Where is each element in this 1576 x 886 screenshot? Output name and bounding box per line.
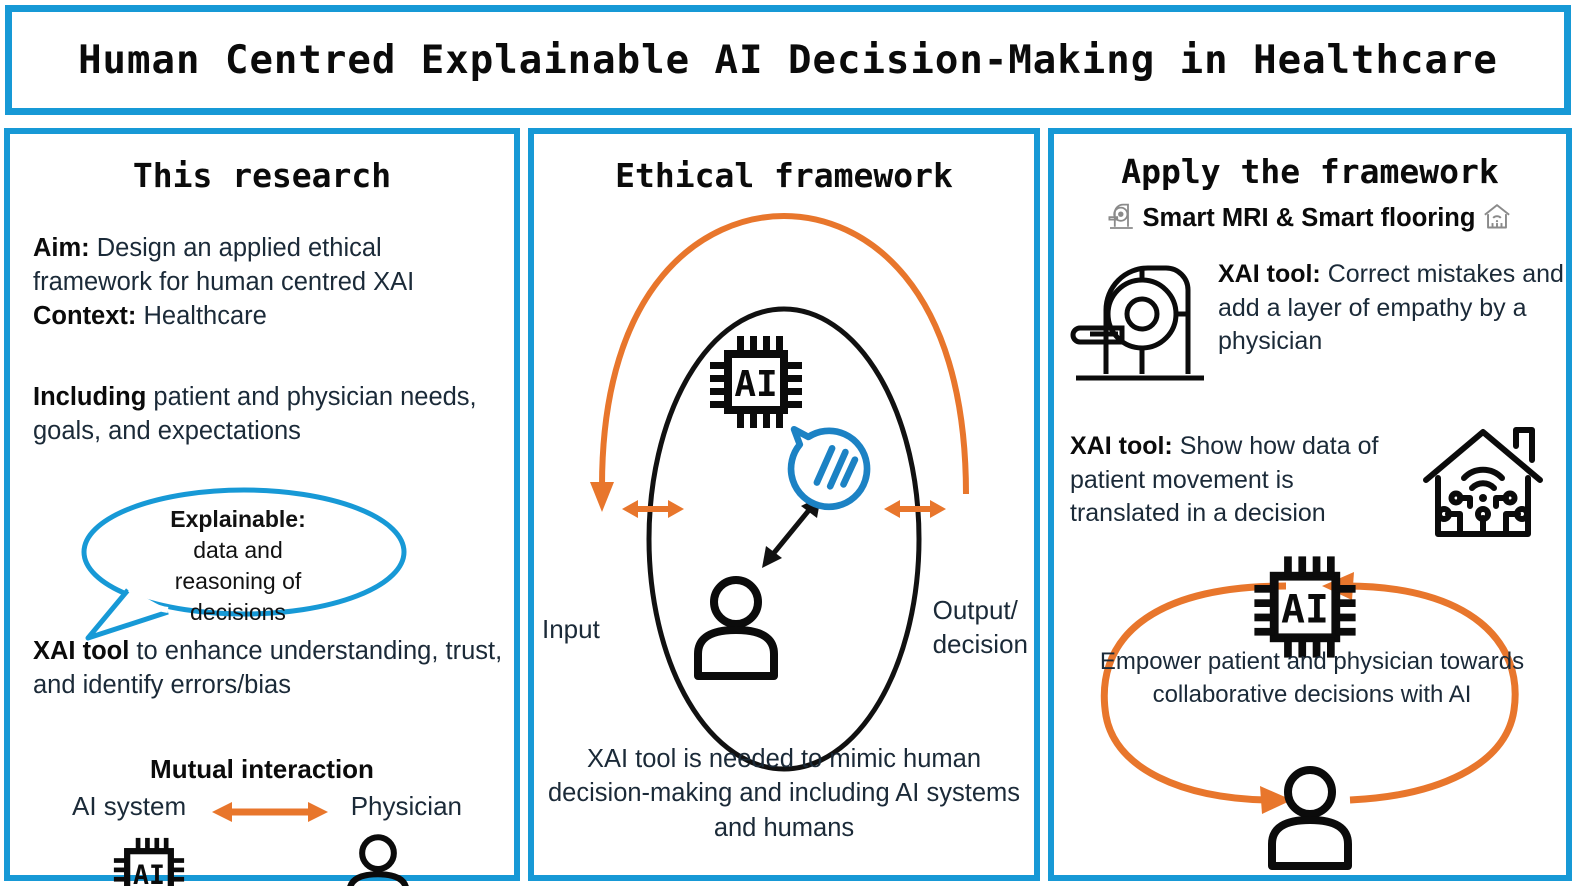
output-label-line1: Output/ bbox=[933, 595, 1018, 625]
explainable-bubble-icon bbox=[777, 416, 872, 516]
bubble-text: Explainable: data and reasoning of decis… bbox=[58, 504, 418, 628]
bubble-line2: data and bbox=[193, 537, 283, 563]
output-label: Output/ decision bbox=[933, 594, 1028, 662]
ai-system-label: AI system bbox=[72, 791, 186, 822]
mid-caption: XAI tool is needed to mimic human decisi… bbox=[548, 742, 1020, 845]
mutual-interaction-row: AI system Physician bbox=[10, 791, 514, 837]
svg-text:AI: AI bbox=[734, 364, 777, 405]
panel-this-research: This research Aim: Design an applied eth… bbox=[4, 128, 520, 881]
xai-tool-mri-text: XAI tool: Correct mistakes and add a lay… bbox=[1218, 258, 1568, 359]
aim-context-block: Aim: Design an applied ethical framework… bbox=[33, 232, 503, 334]
graphical-abstract: Human Centred Explainable AI Decision-Ma… bbox=[0, 0, 1576, 886]
svg-text:AI: AI bbox=[133, 860, 165, 886]
panel-apply-framework: Apply the framework Smart MRI & Smart fl… bbox=[1048, 128, 1572, 881]
mutual-interaction-title: Mutual interaction bbox=[10, 754, 514, 785]
title-bar: Human Centred Explainable AI Decision-Ma… bbox=[5, 5, 1571, 115]
aim-label: Aim: bbox=[33, 234, 90, 262]
context-label: Context: bbox=[33, 302, 136, 330]
person-icon bbox=[686, 574, 786, 685]
right-subtitle-row: Smart MRI & Smart flooring bbox=[1054, 200, 1566, 237]
xai-tool-block: XAI tool to enhance understanding, trust… bbox=[33, 635, 513, 703]
svg-text:AI: AI bbox=[1281, 586, 1329, 632]
including-label: Including bbox=[33, 383, 146, 411]
panel-ethical-framework: Ethical framework bbox=[528, 128, 1040, 881]
xai-tool-flooring-text: XAI tool: Show how data of patient movem… bbox=[1070, 430, 1400, 531]
bubble-line4: decisions bbox=[190, 599, 286, 625]
panel-right-title: Apply the framework bbox=[1054, 152, 1566, 191]
including-block: Including patient and physician needs, g… bbox=[33, 381, 503, 449]
mri-scanner-icon bbox=[1070, 256, 1210, 391]
physician-label: Physician bbox=[351, 791, 462, 822]
smart-home-icon bbox=[1481, 200, 1513, 237]
aim-text: Design an applied ethical framework for … bbox=[33, 234, 414, 296]
page-title: Human Centred Explainable AI Decision-Ma… bbox=[78, 38, 1498, 83]
smart-home-wifi-icon bbox=[1418, 422, 1548, 552]
right-subtitle: Smart MRI & Smart flooring bbox=[1143, 204, 1476, 233]
double-arrow-icon bbox=[210, 797, 330, 832]
input-label: Input bbox=[542, 614, 600, 645]
xai-tool-label-2: XAI tool: bbox=[1070, 432, 1173, 460]
bubble-line3: reasoning of bbox=[175, 568, 302, 594]
loop-caption: Empower patient and physician towards co… bbox=[1090, 646, 1534, 711]
xai-tool-label: XAI tool bbox=[33, 637, 129, 665]
bubble-heading: Explainable: bbox=[170, 506, 305, 532]
panel-left-title: This research bbox=[10, 156, 514, 195]
person-icon bbox=[340, 832, 416, 886]
explainable-speech-bubble: Explainable: data and reasoning of decis… bbox=[58, 486, 418, 646]
mri-scanner-icon bbox=[1107, 201, 1137, 236]
xai-tool-label-1: XAI tool: bbox=[1218, 260, 1321, 288]
person-icon bbox=[1260, 764, 1360, 875]
context-text: Healthcare bbox=[136, 302, 266, 330]
output-label-line2: decision bbox=[933, 629, 1028, 659]
ai-chip-icon: AI bbox=[110, 834, 188, 886]
